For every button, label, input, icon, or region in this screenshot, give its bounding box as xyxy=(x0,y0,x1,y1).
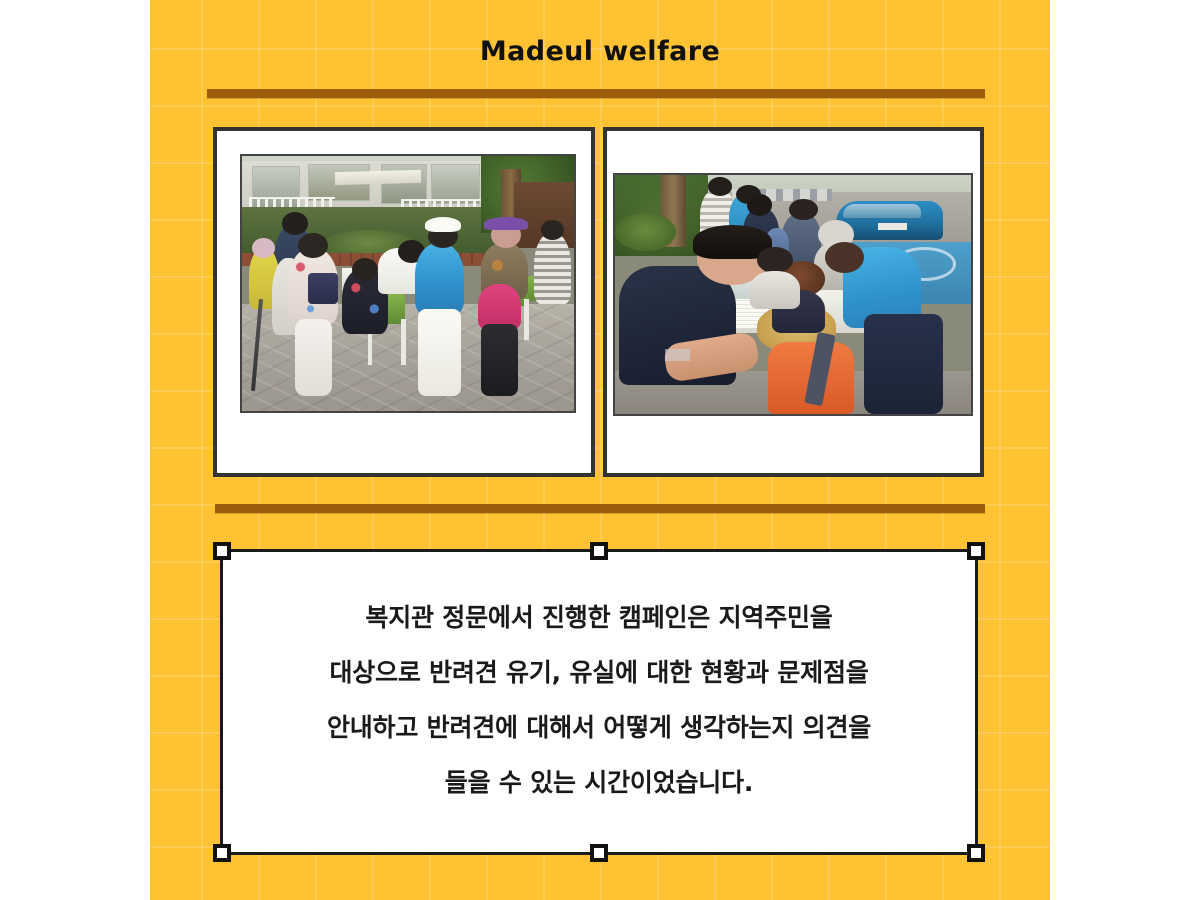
caption-text: 복지관 정문에서 진행한 캠페인은 지역주민을 대상으로 반려견 유기, 유실에… xyxy=(223,552,975,852)
handle-top-middle[interactable] xyxy=(590,542,608,560)
handle-top-left[interactable] xyxy=(213,542,231,560)
top-divider-bar xyxy=(207,89,985,98)
caption-line-4: 들을 수 있는 시간이었습니다. xyxy=(445,770,753,795)
photo-left xyxy=(240,154,576,413)
slide-canvas-stage: Madeul welfare xyxy=(0,0,1200,900)
caption-text-box[interactable]: 복지관 정문에서 진행한 캠페인은 지역주민을 대상으로 반려견 유기, 유실에… xyxy=(220,549,978,855)
handle-top-right[interactable] xyxy=(967,542,985,560)
handle-bottom-middle[interactable] xyxy=(590,844,608,862)
photo-left-artwork xyxy=(242,156,574,411)
yellow-grid-canvas: Madeul welfare xyxy=(150,0,1050,900)
photo-frame-left[interactable] xyxy=(213,127,595,477)
photo-right-artwork xyxy=(615,175,971,414)
photo-frame-right[interactable] xyxy=(603,127,984,477)
handle-bottom-left[interactable] xyxy=(213,844,231,862)
photo-right xyxy=(613,173,973,416)
caption-line-3: 안내하고 반려견에 대해서 어떻게 생각하는지 의견을 xyxy=(327,715,871,740)
handle-bottom-right[interactable] xyxy=(967,844,985,862)
caption-line-1: 복지관 정문에서 진행한 캠페인은 지역주민을 xyxy=(365,605,832,630)
bottom-divider-bar xyxy=(215,504,985,513)
caption-line-2: 대상으로 반려견 유기, 유실에 대한 현황과 문제점을 xyxy=(329,660,868,685)
page-title: Madeul welfare xyxy=(150,36,1050,67)
